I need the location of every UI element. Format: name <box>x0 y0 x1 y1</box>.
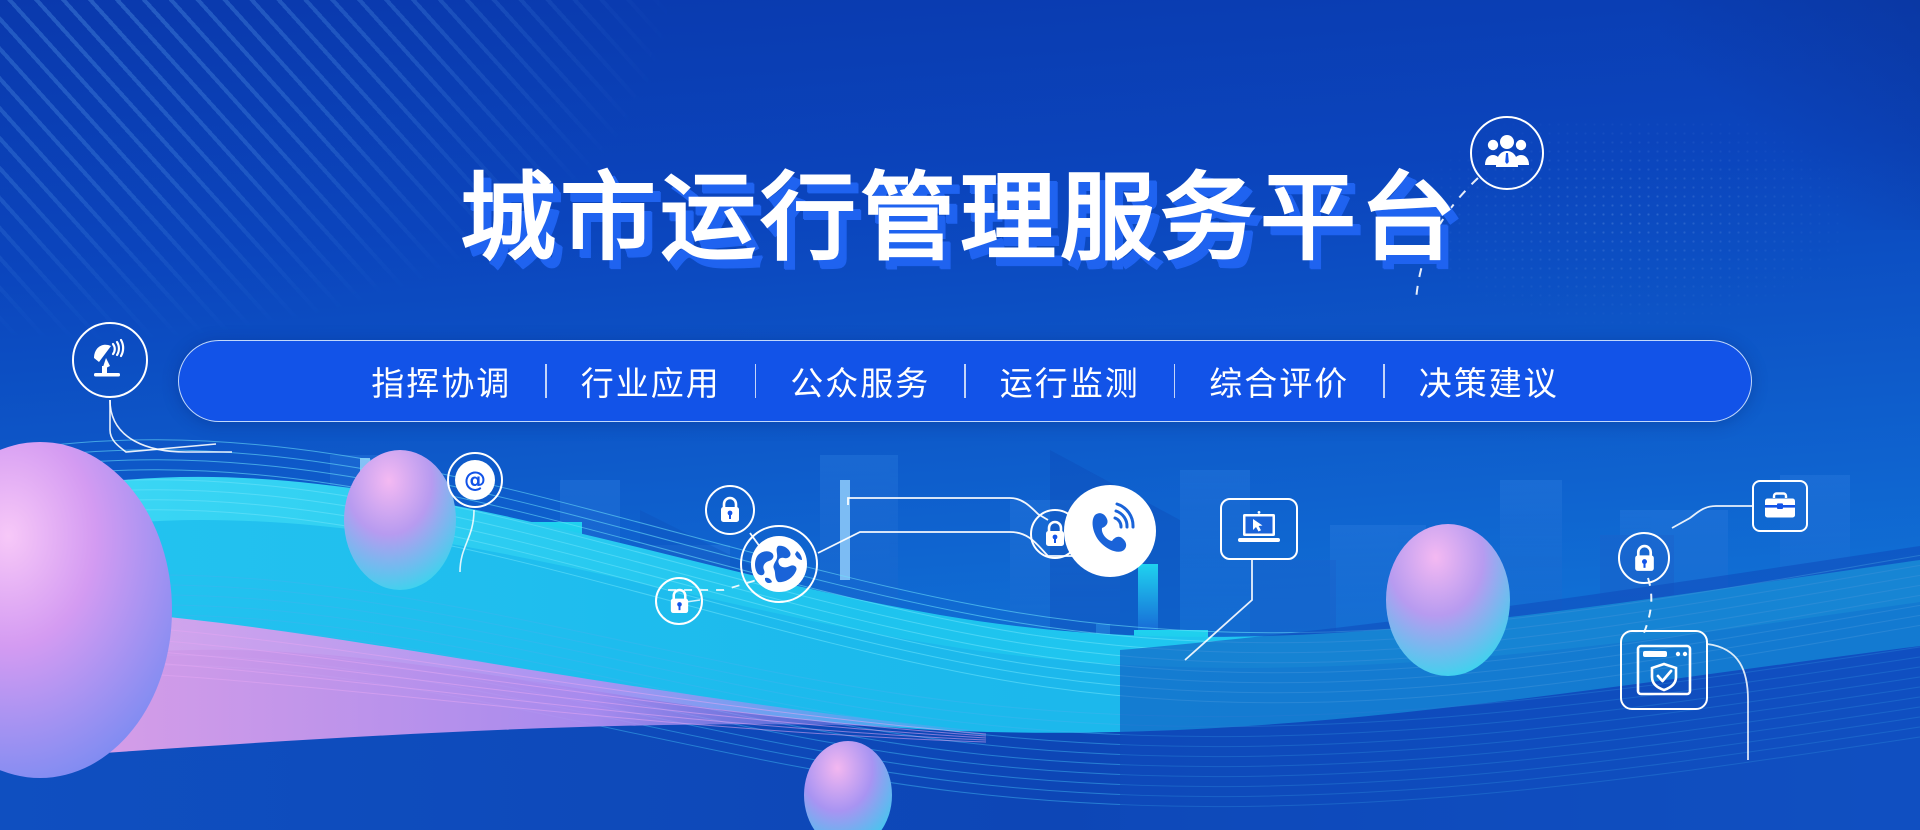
nav-item-2[interactable]: 公众服务 <box>756 357 964 405</box>
at-sign-icon-node[interactable]: @ <box>447 452 503 508</box>
nav-item-3[interactable]: 运行监测 <box>966 357 1174 405</box>
lock-icon-node-4[interactable] <box>1618 532 1670 584</box>
svg-text:@: @ <box>464 468 486 493</box>
phone-signal-icon <box>1081 502 1139 560</box>
browser-shield-icon-node[interactable] <box>1620 630 1708 710</box>
nav-item-0[interactable]: 指挥协调 <box>337 357 545 405</box>
laptop-cursor-icon <box>1232 509 1286 549</box>
satellite-dish-icon-node[interactable] <box>72 322 148 398</box>
nav-item-4[interactable]: 综合评价 <box>1175 357 1383 405</box>
lock-icon <box>717 496 743 524</box>
lock-icon-node-2[interactable] <box>655 577 703 625</box>
nav-item-5[interactable]: 决策建议 <box>1385 357 1593 405</box>
satellite-dish-icon <box>88 338 132 382</box>
main-nav: 指挥协调 行业应用 公众服务 运行监测 综合评价 决策建议 <box>178 340 1752 422</box>
browser-shield-icon <box>1634 643 1694 697</box>
people-group-icon <box>1484 134 1530 172</box>
wave-decoration <box>0 410 1920 830</box>
briefcase-icon <box>1762 490 1798 522</box>
at-sign-icon: @ <box>461 466 489 494</box>
hero-banner: @ <box>0 0 1920 830</box>
phone-signal-icon-node[interactable] <box>1064 485 1156 577</box>
nav-item-1[interactable]: 行业应用 <box>547 357 755 405</box>
lock-icon <box>667 588 692 615</box>
corner-triangle-decoration <box>1660 0 1920 230</box>
lock-icon <box>1631 544 1658 573</box>
briefcase-icon-node[interactable] <box>1752 480 1808 532</box>
globe-icon <box>748 533 810 595</box>
globe-icon-node[interactable] <box>740 525 818 603</box>
people-group-icon-node[interactable] <box>1470 116 1544 190</box>
laptop-cursor-icon-node[interactable] <box>1220 498 1298 560</box>
